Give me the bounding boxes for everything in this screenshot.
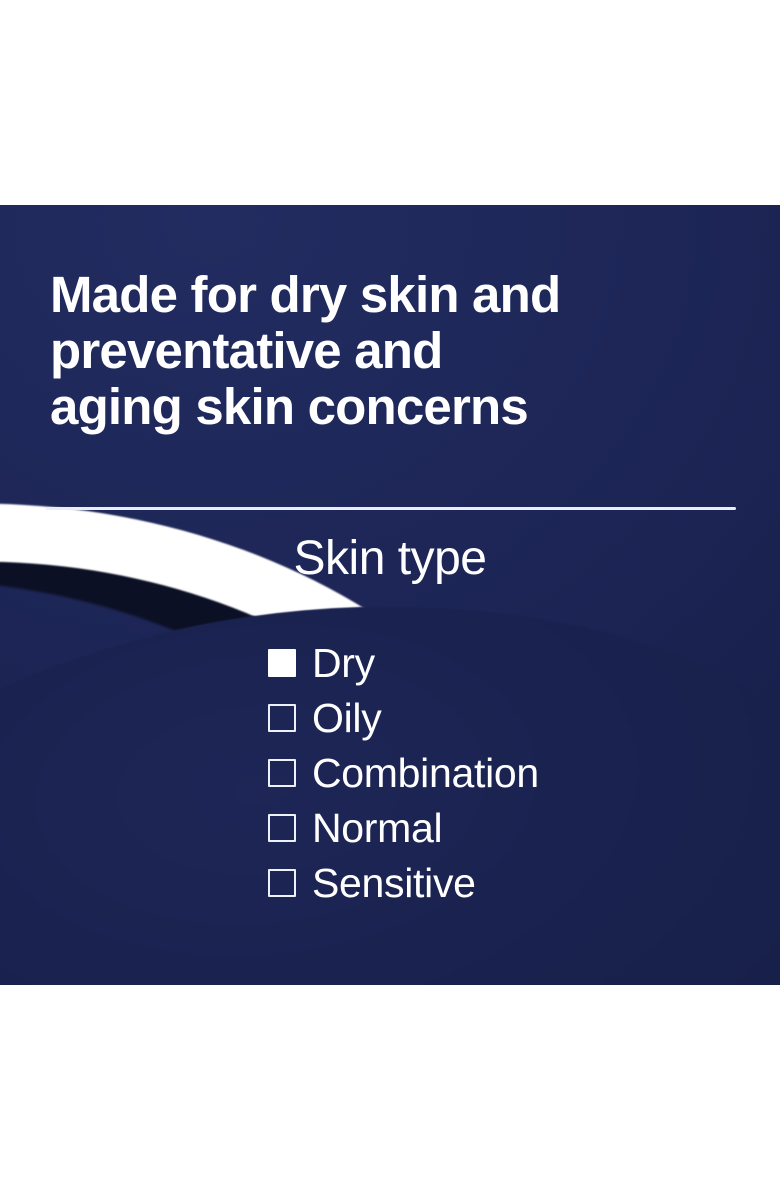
- skin-type-heading: Skin type: [0, 530, 780, 588]
- skin-type-option-sensitive[interactable]: Sensitive: [268, 855, 708, 910]
- skin-type-option-normal[interactable]: Normal: [268, 800, 708, 855]
- checkbox-filled-icon[interactable]: [268, 649, 296, 677]
- checkbox-empty-icon[interactable]: [268, 704, 296, 732]
- skin-type-option-label: Sensitive: [312, 861, 476, 905]
- skin-type-option-dry[interactable]: Dry: [268, 635, 708, 690]
- skin-type-option-oily[interactable]: Oily: [268, 690, 708, 745]
- checkbox-empty-icon[interactable]: [268, 759, 296, 787]
- checkbox-empty-icon[interactable]: [268, 814, 296, 842]
- checkbox-empty-icon[interactable]: [268, 869, 296, 897]
- section-divider: [46, 507, 736, 510]
- panel-content: Made for dry skin and preventative and a…: [0, 205, 780, 985]
- navy-graphic-panel: Made for dry skin and preventative and a…: [0, 205, 780, 985]
- skin-type-option-label: Oily: [312, 696, 381, 740]
- skin-type-option-label: Normal: [312, 806, 442, 850]
- page-title: Made for dry skin and preventative and a…: [50, 267, 710, 435]
- skin-type-option-label: Dry: [312, 641, 375, 685]
- product-info-card: Made for dry skin and preventative and a…: [0, 0, 780, 1196]
- skin-type-option-list: DryOilyCombinationNormalSensitive: [268, 635, 708, 910]
- skin-type-option-label: Combination: [312, 751, 539, 795]
- skin-type-option-combination[interactable]: Combination: [268, 745, 708, 800]
